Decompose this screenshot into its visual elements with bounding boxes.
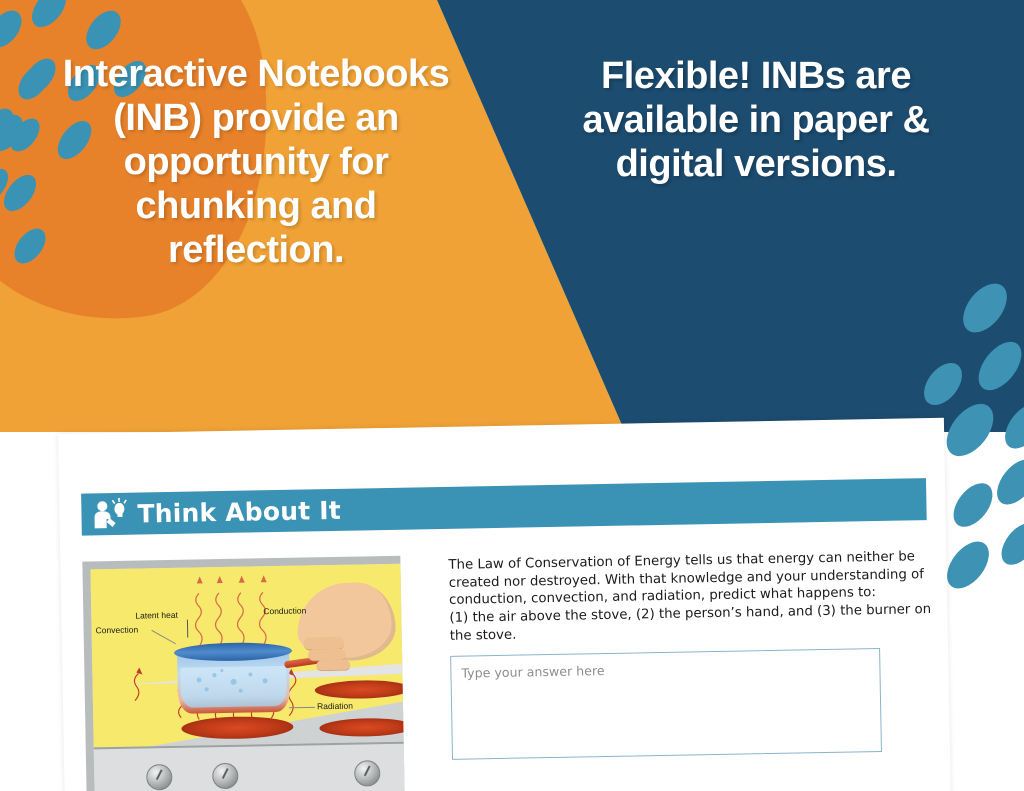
figure-label-convection: Convection <box>96 625 139 636</box>
question-prompt: The Law of Conservation of Energy tells … <box>448 548 944 645</box>
slide-canvas: Interactive Notebooks (INB) provide an o… <box>0 0 1024 791</box>
figure-label-radiation: Radiation <box>317 701 353 712</box>
cooking-pot <box>174 642 293 714</box>
left-panel-headline: Interactive Notebooks (INB) provide an o… <box>56 52 456 272</box>
dot-decoration <box>989 452 1024 511</box>
worksheet-card: Think About It <box>58 418 951 791</box>
dot-decoration <box>946 476 1000 534</box>
stove-knob[interactable] <box>354 760 380 786</box>
stove-heat-transfer-diagram: Latent heat Conduction Convection Radiat… <box>82 556 405 791</box>
figure-label-latent-heat: Latent heat <box>135 610 178 621</box>
stove-knob[interactable] <box>146 764 172 790</box>
answer-box[interactable] <box>450 648 882 760</box>
stove-front-panel <box>94 742 405 791</box>
finger <box>316 660 350 672</box>
figure-label-conduction: Conduction <box>263 605 306 616</box>
think-about-it-banner: Think About It <box>81 478 927 535</box>
dot-decoration <box>939 534 997 596</box>
question-column: The Law of Conservation of Energy tells … <box>400 546 947 791</box>
right-panel-headline: Flexible! INBs are available in paper & … <box>556 54 956 186</box>
banner-title: Think About It <box>137 495 341 528</box>
dot-decoration <box>994 516 1024 571</box>
stove-knob[interactable] <box>212 763 238 789</box>
worksheet-body: Latent heat Conduction Convection Radiat… <box>82 546 947 791</box>
person-with-lightbulb-icon <box>91 498 132 531</box>
answer-input[interactable] <box>451 649 881 759</box>
